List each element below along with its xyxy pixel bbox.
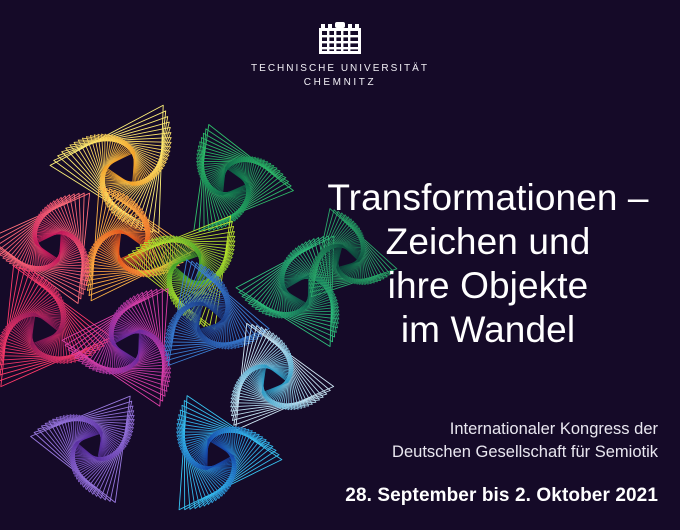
logo-text-line1: TECHNISCHE UNIVERSITÄT — [0, 62, 680, 76]
conference-poster: TECHNISCHE UNIVERSITÄT CHEMNITZ Transfor… — [0, 0, 680, 530]
title-line-3: ihre Objekte — [318, 264, 658, 308]
title-line-4: im Wandel — [318, 308, 658, 352]
subtitle: Internationaler Kongress der Deutschen G… — [298, 418, 658, 464]
spiro-blue-bottom — [177, 396, 282, 510]
spiro-purple-bottom — [31, 396, 135, 502]
title-line-2: Zeichen und — [318, 220, 658, 264]
subtitle-line-2: Deutschen Gesellschaft für Semiotik — [298, 441, 658, 464]
spiro-green-upper-right — [194, 125, 294, 232]
event-date: 28. September bis 2. Oktober 2021 — [298, 484, 658, 508]
spiro-violet-mid — [62, 289, 170, 406]
tu-chemnitz-building-icon — [315, 20, 365, 54]
footer-block: Internationaler Kongress der Deutschen G… — [298, 418, 658, 508]
title-block: Transformationen – Zeichen und ihre Obje… — [318, 176, 658, 352]
logo-text-line2: CHEMNITZ — [0, 76, 680, 90]
university-logo: TECHNISCHE UNIVERSITÄT CHEMNITZ — [0, 20, 680, 90]
title-line-1: Transformationen – — [318, 176, 658, 220]
page-title: Transformationen – Zeichen und ihre Obje… — [318, 176, 658, 352]
subtitle-line-1: Internationaler Kongress der — [298, 418, 658, 441]
